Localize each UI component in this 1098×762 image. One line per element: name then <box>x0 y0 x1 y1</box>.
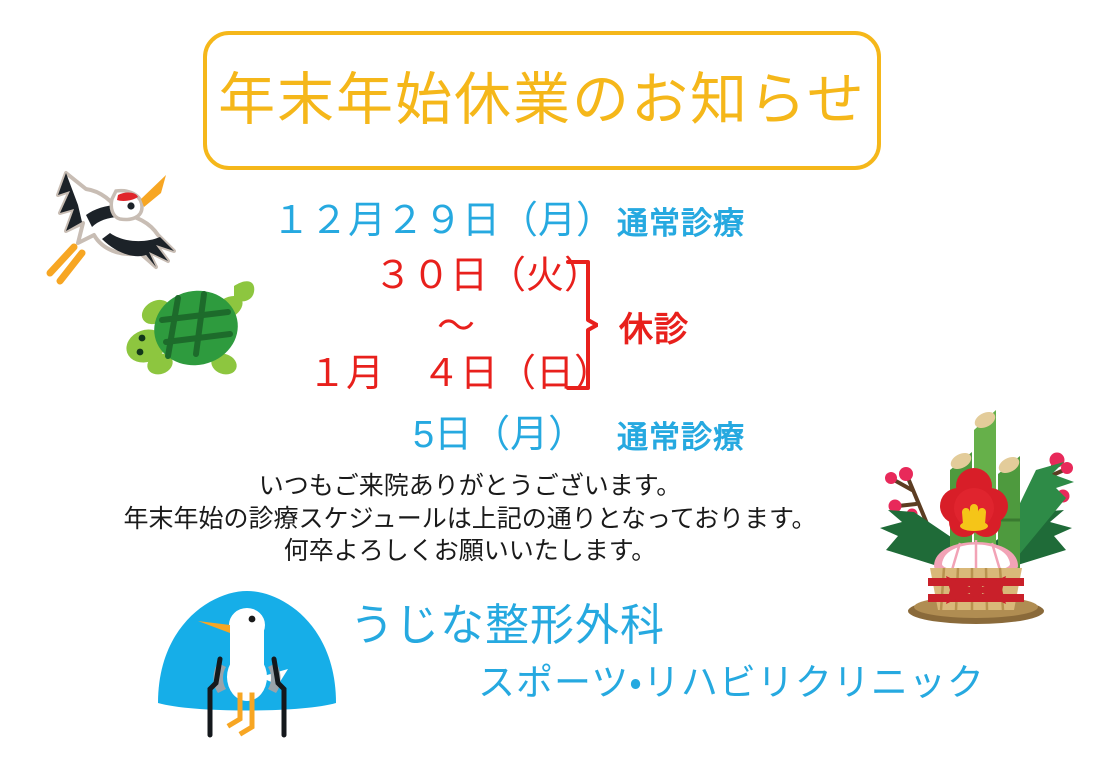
schedule-status-dec29: 通常診療 <box>617 208 745 239</box>
schedule-status-jan5: 通常診療 <box>617 422 745 453</box>
schedule-status-closed: 休診 <box>619 313 689 347</box>
body-line-1: いつもご来院ありがとうございます。 <box>0 470 940 503</box>
clinic-name-block: うじな整形外科 スポーツ・リハビリクリニック <box>350 604 985 701</box>
clinic-name-primary: うじな整形外科 <box>350 604 985 648</box>
schedule-range-tilde: 〜 <box>437 308 475 346</box>
turtle-illustration <box>122 272 262 384</box>
clinic-logo <box>152 585 342 757</box>
schedule-date-dec29: １２月２９日（月） <box>272 202 614 240</box>
kadomatsu-illustration <box>868 378 1084 626</box>
page-title: 年末年始休業のお知らせ <box>218 72 866 129</box>
schedule-date-jan5: 5日（月） <box>413 416 586 454</box>
body-line-3: 何卒よろしくお願いいたします。 <box>0 535 940 568</box>
body-paragraph: いつもご来院ありがとうございます。 年末年始の診療スケジュールは上記の通りとなっ… <box>0 470 940 568</box>
title-banner: 年末年始休業のお知らせ <box>203 31 881 170</box>
closed-period-bracket <box>566 258 598 392</box>
clinic-name-secondary: スポーツ・リハビリクリニック <box>478 664 985 701</box>
body-line-2: 年末年始の診療スケジュールは上記の通りとなっております。 <box>0 503 940 536</box>
